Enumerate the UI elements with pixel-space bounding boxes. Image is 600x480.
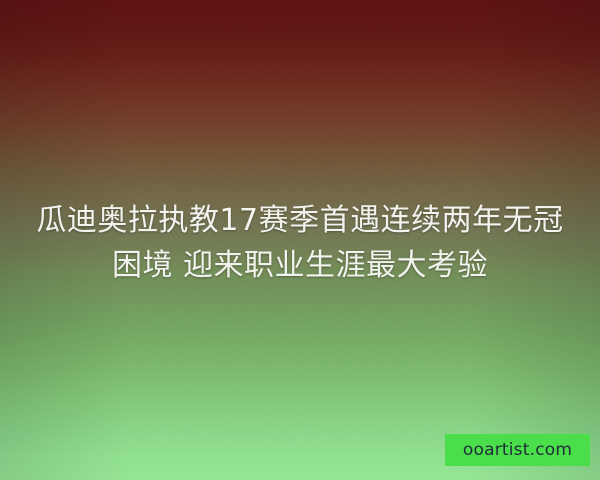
watermark-label: ooartist.com bbox=[463, 442, 572, 459]
watermark-badge: ooartist.com bbox=[445, 434, 590, 466]
title-card: 瓜迪奥拉执教17赛季首遇连续两年无冠 困境 迎来职业生涯最大考验 ooartis… bbox=[0, 0, 600, 480]
title-line-1: 瓜迪奥拉执教17赛季首遇连续两年无冠 bbox=[28, 198, 572, 243]
title-line-2: 困境 迎来职业生涯最大考验 bbox=[28, 243, 572, 288]
page-title: 瓜迪奥拉执教17赛季首遇连续两年无冠 困境 迎来职业生涯最大考验 bbox=[0, 198, 600, 288]
